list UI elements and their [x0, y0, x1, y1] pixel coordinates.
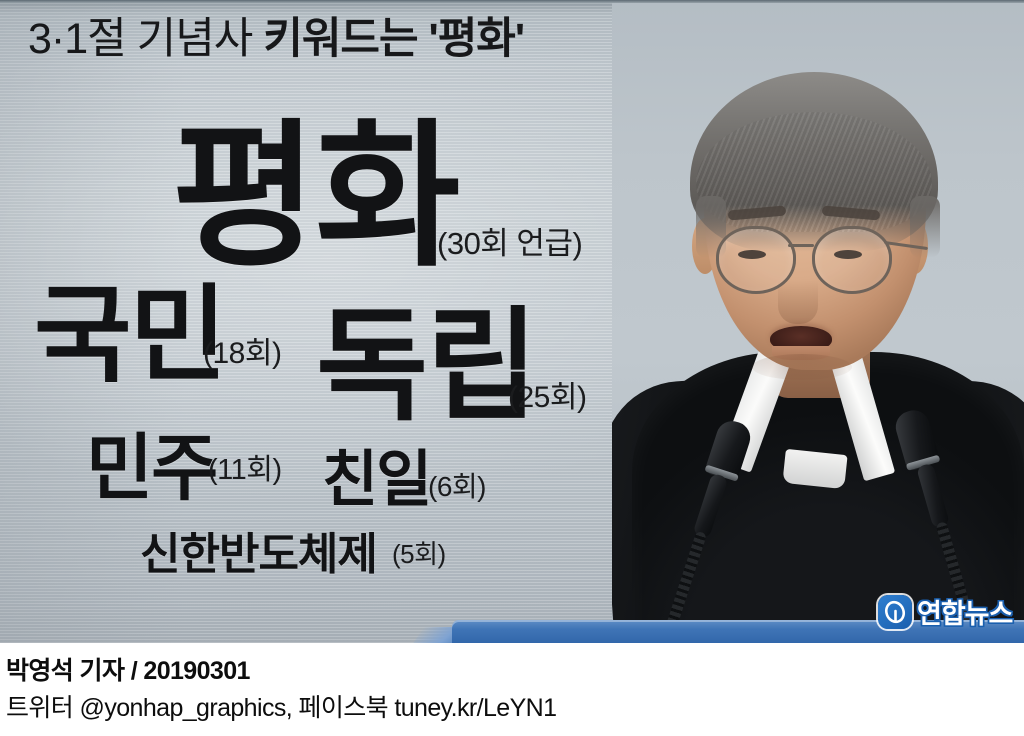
keyword-pro-japanese: 친일 [322, 449, 430, 510]
eyeglasses-right-lens [812, 226, 892, 294]
yonhap-brand-text: 연합뉴스 [917, 592, 1012, 631]
keyword-people-count: (18회) [203, 339, 281, 369]
speaker-photo [612, 0, 1024, 643]
collar-base [782, 449, 847, 489]
caption-bar: 박영석 기자 / 20190301 트위터 @yonhap_graphics, … [0, 643, 1024, 736]
keyword-peace-count: (30회 언급) [437, 228, 582, 259]
caption-social: 트위터 @yonhap_graphics, 페이스북 tuney.kr/LeYN… [6, 688, 556, 724]
keyword-peace: 평화 [172, 118, 459, 276]
keyword-democracy-count: (11회) [208, 456, 282, 485]
word-cloud: 평화 (30회 언급) 국민 (18회) 독립 (25회) 민주 (11회) 친… [0, 0, 640, 643]
keyword-people: 국민 [34, 283, 225, 389]
keyword-democracy: 민주 [86, 432, 216, 505]
keyword-new-korean-peninsula-regime: 신한반도체제 [140, 533, 377, 577]
yonhap-logo-icon [878, 595, 912, 629]
keyword-independence: 독립 [316, 305, 536, 427]
nose [778, 262, 818, 324]
chin-shadow [752, 354, 852, 380]
keyword-new-korean-peninsula-regime-count: (5회) [392, 541, 446, 567]
eyeglasses-bridge [788, 244, 814, 247]
caption-credit: 박영석 기자 / 20190301 [6, 651, 250, 687]
yonhap-watermark: 연합뉴스 [878, 592, 1012, 631]
keyword-pro-japanese-count: (6회) [428, 473, 486, 501]
infographic-screenshot: 3·1절 기념사 키워드는 '평화' [0, 0, 1024, 736]
keyword-independence-count: (25회) [508, 383, 586, 413]
graphic-panel: 3·1절 기념사 키워드는 '평화' [0, 0, 1024, 643]
